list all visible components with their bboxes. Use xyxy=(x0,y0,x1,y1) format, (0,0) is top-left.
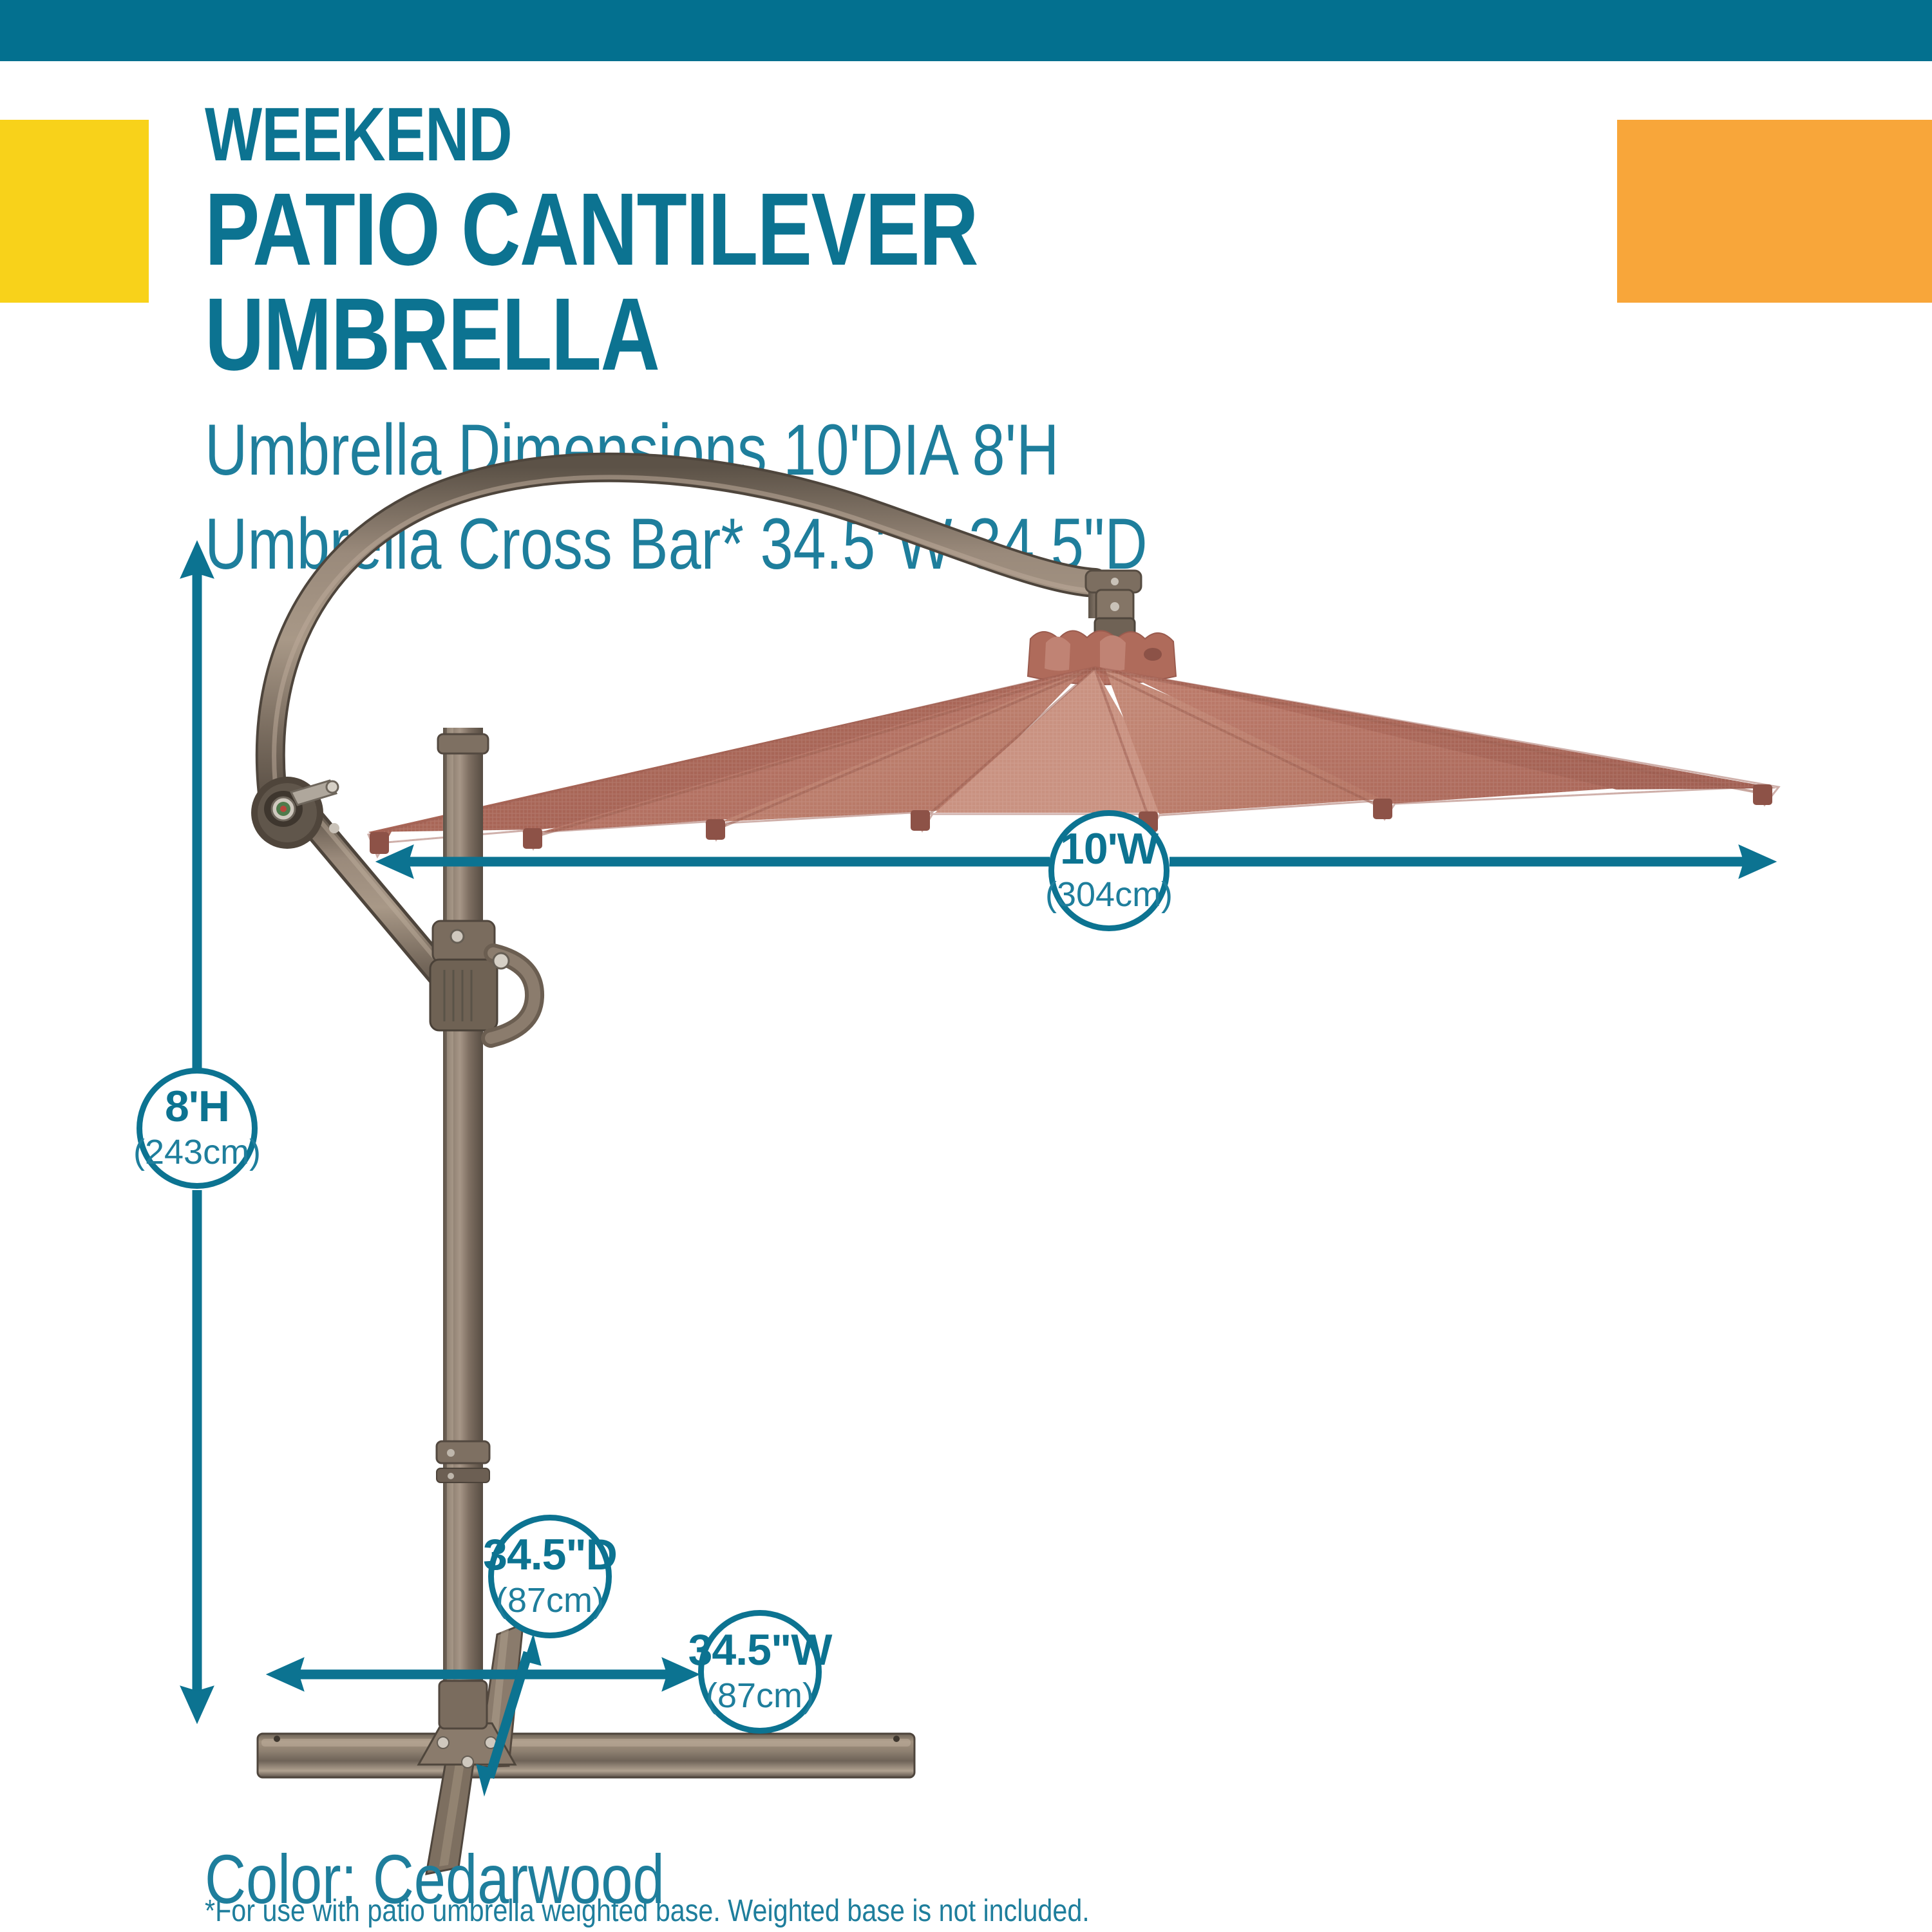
dimension-metric-depth: (87cm) xyxy=(496,1580,604,1620)
dimension-label-cross-width: 34.5"W xyxy=(688,1628,832,1672)
dimension-label-depth: 34.5"D xyxy=(483,1533,617,1577)
dimension-callout-cross-width: 34.5"W (87cm) xyxy=(698,1610,822,1734)
product-illustration xyxy=(0,0,1932,1932)
dimension-metric-cross-width: (87cm) xyxy=(706,1676,814,1716)
dimension-callout-depth: 34.5"D (87cm) xyxy=(488,1515,612,1638)
dimension-metric-width: (304cm) xyxy=(1045,875,1173,914)
dimension-callout-height: 8'H (243cm) xyxy=(137,1068,258,1189)
main-pole xyxy=(437,728,489,1681)
disclaimer-footnote: *For use with patio umbrella weighted ba… xyxy=(205,1893,1090,1929)
pole-hinge-lock xyxy=(430,921,535,1038)
dimension-label-height: 8'H xyxy=(165,1084,229,1128)
umbrella-drawing xyxy=(0,0,1932,1932)
dimension-callout-width: 10'W (304cm) xyxy=(1048,810,1170,931)
dimension-label-width: 10'W xyxy=(1060,827,1158,871)
dimension-metric-height: (243cm) xyxy=(133,1132,261,1172)
